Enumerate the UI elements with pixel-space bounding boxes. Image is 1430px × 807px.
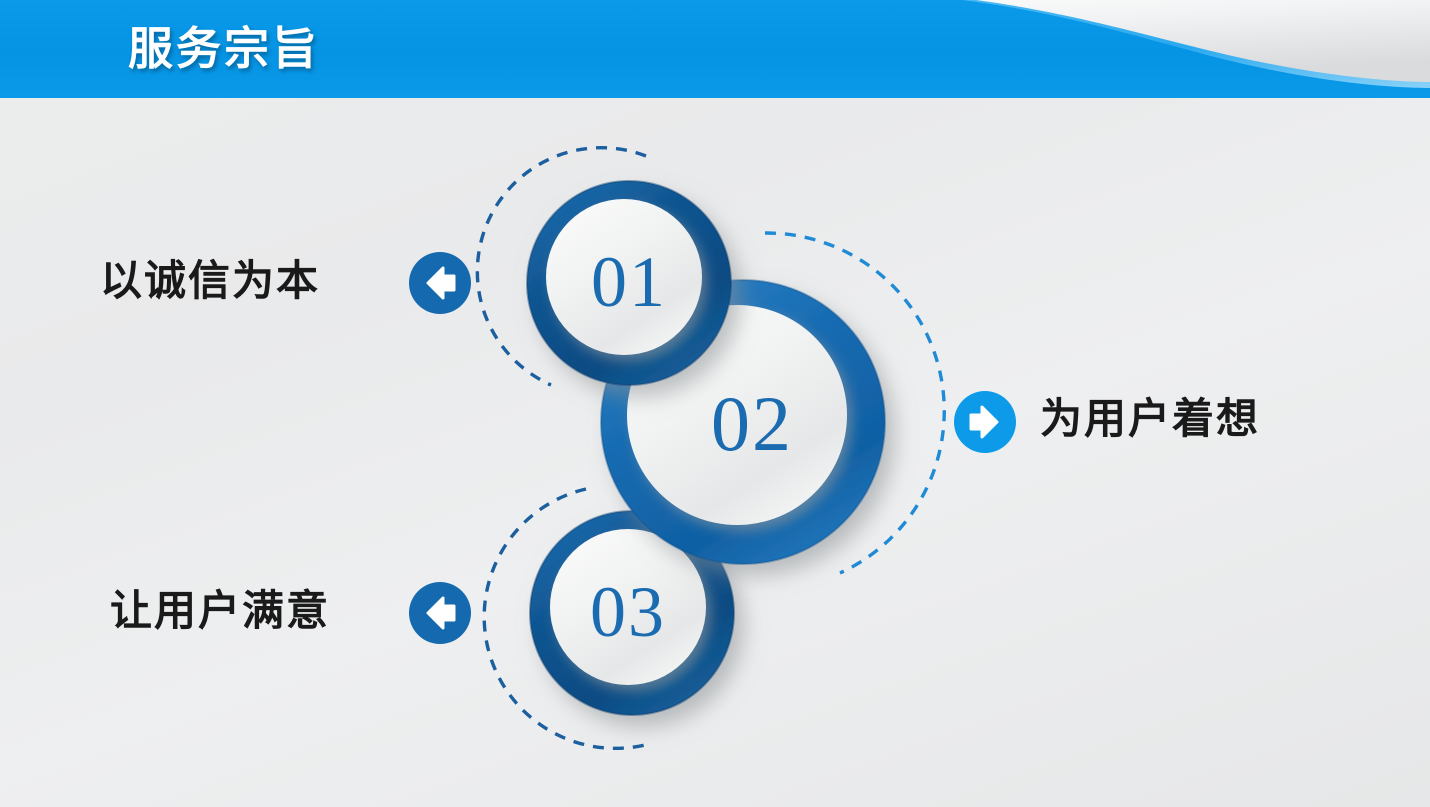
arrow-right-circle-icon-02[interactable]	[953, 390, 1017, 454]
node-02-number: 02	[711, 380, 793, 467]
slide-canvas: 服务宗旨	[0, 0, 1430, 807]
node-03-number: 03	[590, 572, 666, 652]
arrow-left-circle-icon-01[interactable]	[408, 251, 472, 315]
arrow-left-circle-icon-03[interactable]	[408, 581, 472, 645]
node-01-label: 以诚信为本	[100, 255, 320, 307]
diagram-node-01[interactable]: 01	[527, 181, 731, 385]
node-03-label: 让用户满意	[110, 585, 330, 637]
node-01-number: 01	[591, 242, 667, 322]
node-02-label: 为用户着想	[1040, 393, 1260, 445]
